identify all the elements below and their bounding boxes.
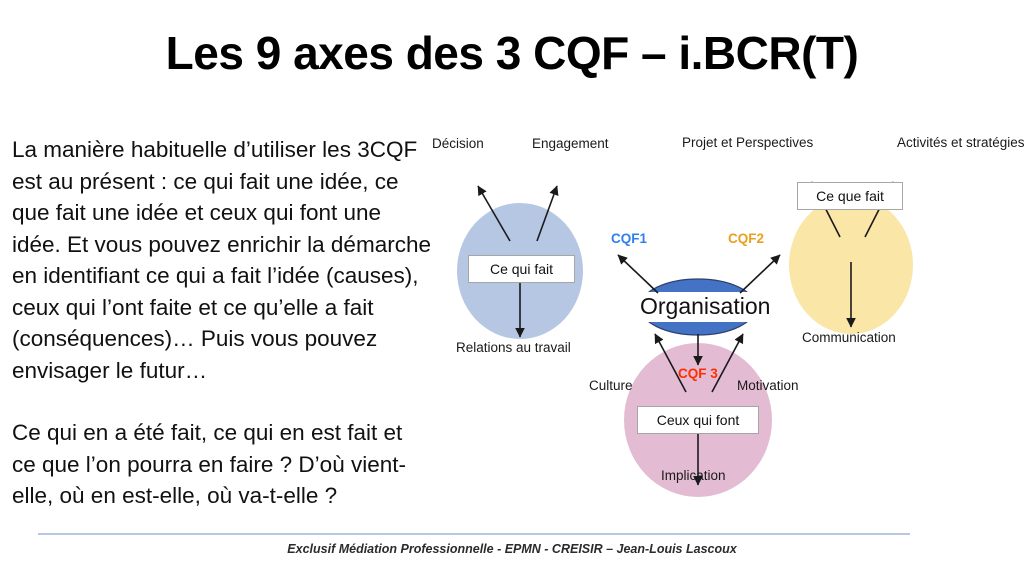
- cqf1-axis-bottom-label: Relations au travail: [456, 340, 571, 355]
- cqf3-axis-top-right-label: Motivation: [737, 378, 799, 393]
- cqf1-branch-arrow: [618, 255, 658, 293]
- cqf1-branch-label: CQF1: [611, 231, 647, 246]
- cqf3-axis-top-left-label: Culture: [589, 378, 633, 393]
- footer-divider: [38, 533, 910, 535]
- cqf3-axis-bottom-label: Implication: [661, 468, 726, 483]
- footer-credit: Exclusif Médiation Professionnelle - EPM…: [0, 542, 1024, 556]
- page-title: Les 9 axes des 3 CQF – i.BCR(T): [0, 26, 1024, 80]
- cqf2-axis-top-left-label: Projet et Perspectives: [682, 135, 813, 150]
- cqf1-axis-top-left-label: Décision: [432, 136, 484, 151]
- cqf-diagram: Décision Engagement Relations au travail…: [410, 125, 1024, 505]
- cqf1-axis-top-right-label: Engagement: [532, 136, 609, 151]
- cqf2-axis-bottom-label: Communication: [802, 330, 896, 345]
- organisation-node-label: Organisation: [638, 295, 762, 318]
- body-text-block: La manière habituelle d’utiliser les 3CQ…: [12, 134, 432, 512]
- cqf3-branch-label: CQF 3: [678, 366, 718, 381]
- cqf2-inner-box: Ce que fait: [797, 182, 903, 210]
- cqf2-axis-top-right-label: Activités et stratégies: [897, 135, 1024, 150]
- body-paragraph-2: Ce qui en a été fait, ce qui en est fait…: [12, 417, 432, 512]
- cqf2-branch-arrow: [740, 255, 780, 293]
- cqf3-inner-box: Ceux qui font: [637, 406, 759, 434]
- cqf1-inner-box: Ce qui fait: [468, 255, 575, 283]
- cqf2-branch-label: CQF2: [728, 231, 764, 246]
- body-paragraph-1: La manière habituelle d’utiliser les 3CQ…: [12, 134, 432, 386]
- paragraph-spacer: [12, 386, 432, 417]
